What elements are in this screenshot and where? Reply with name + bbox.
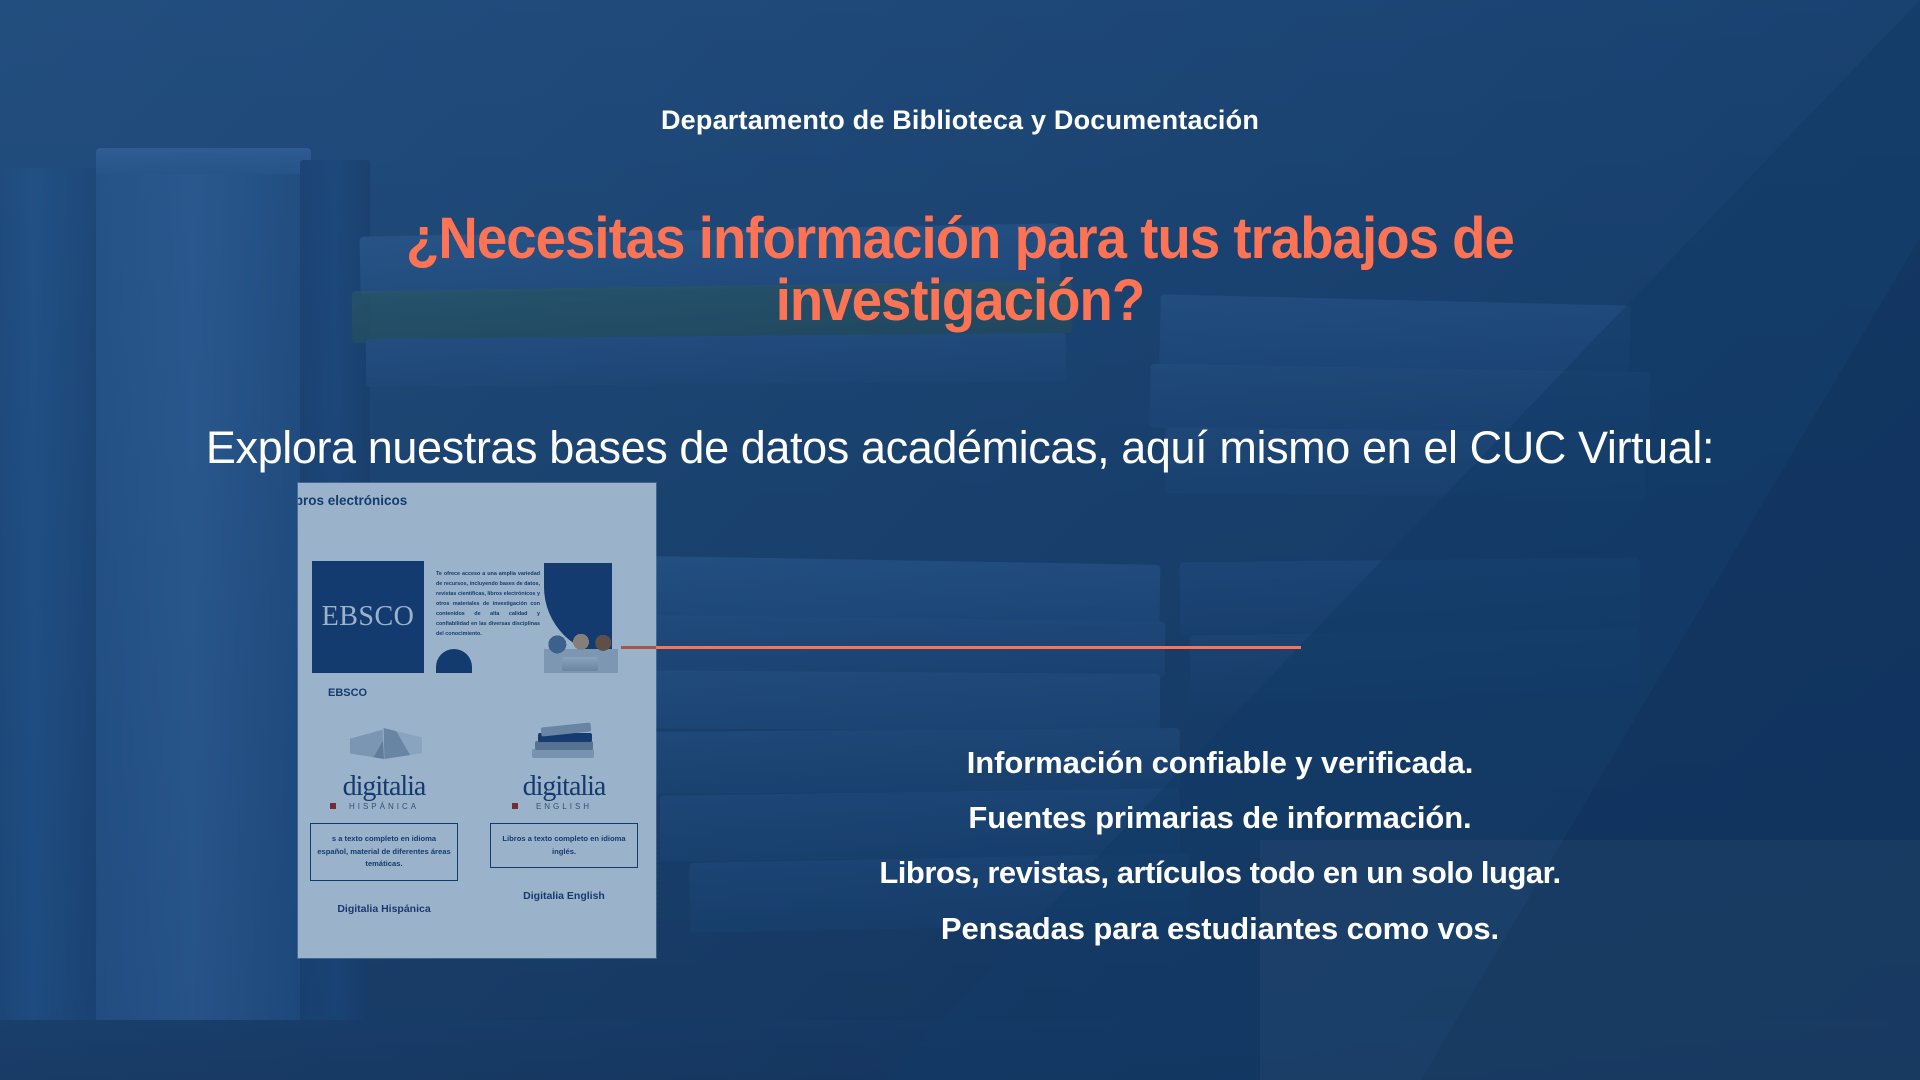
- benefits-list: Información confiable y verificada. Fuen…: [560, 735, 1880, 956]
- subheadline: Explora nuestras bases de datos académic…: [110, 418, 1810, 479]
- department-header: Departamento de Biblioteca y Documentaci…: [0, 105, 1920, 136]
- benefit-item: Fuentes primarias de información.: [560, 790, 1880, 845]
- headline: ¿Necesitas información para tus trabajos…: [255, 208, 1665, 332]
- banner-content: Departamento de Biblioteca y Documentaci…: [0, 0, 1920, 1080]
- promotional-banner: a libros electrónicos EBSCO Te ofrece ac…: [0, 0, 1920, 1080]
- coral-divider: [621, 646, 1301, 649]
- benefit-item: Información confiable y verificada.: [560, 735, 1880, 790]
- benefit-item: Pensadas para estudiantes como vos.: [560, 901, 1880, 956]
- benefit-item: Libros, revistas, artículos todo en un s…: [560, 845, 1880, 900]
